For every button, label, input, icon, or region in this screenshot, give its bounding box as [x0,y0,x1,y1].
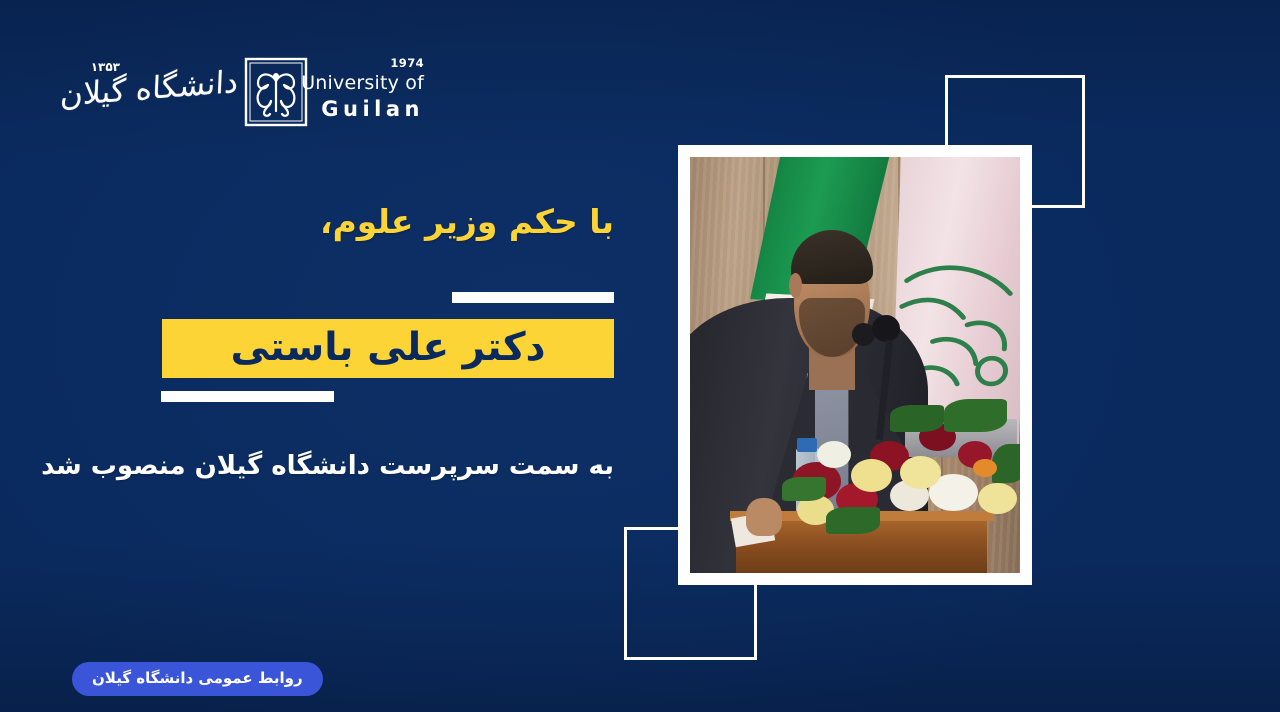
logo-english-line1: University of [301,72,424,94]
lily-yellow [900,456,942,489]
orange-bloom [973,459,997,477]
microphone-icon [872,315,900,342]
person-name: دکتر علی باستی [230,328,545,370]
rose-white [817,441,851,468]
logo-english-block: 1974 University of Guilan [314,52,426,132]
speaker-photo: ﷲ ﷲ ﷲ ﷲ ﷲ ﷲ ﷲ ﷲ ﷲ [690,157,1020,573]
logo-english-line2: Guilan [321,97,424,121]
university-logo: ۱۳۵۳ دانشگاه گیلان 1974 [88,46,408,138]
hair [791,230,874,284]
university-emblem-icon [244,57,308,127]
lily-yellow [851,459,893,492]
fern-leaf [944,399,1007,432]
logo-persian-block: ۱۳۵۳ دانشگاه گیلان [88,46,238,138]
photo-card: ﷲ ﷲ ﷲ ﷲ ﷲ ﷲ ﷲ ﷲ ﷲ [678,145,1032,585]
hand [746,498,782,535]
headline-subline: به سمت سرپرست دانشگاه گیلان منصوب شد [41,448,614,484]
fern-leaf [826,507,880,534]
fern-leaf [782,477,826,501]
fern-leaf [992,444,1020,483]
accent-rule-bottom [161,391,334,402]
announcement-poster: ۱۳۵۳ دانشگاه گیلان 1974 [0,0,1280,712]
accent-rule-top [452,292,614,303]
public-relations-badge-label: روابط عمومی دانشگاه گیلان [92,671,303,688]
headline-kicker: با حکم وزیر علوم، [320,200,614,245]
name-highlight-box: دکتر علی باستی [162,319,614,378]
fern-leaf [890,405,944,432]
logo-english-year: 1974 [390,56,424,70]
public-relations-badge[interactable]: روابط عمومی دانشگاه گیلان [72,662,323,696]
flower-bouquet [782,390,1020,540]
lily-yellow [978,483,1017,514]
